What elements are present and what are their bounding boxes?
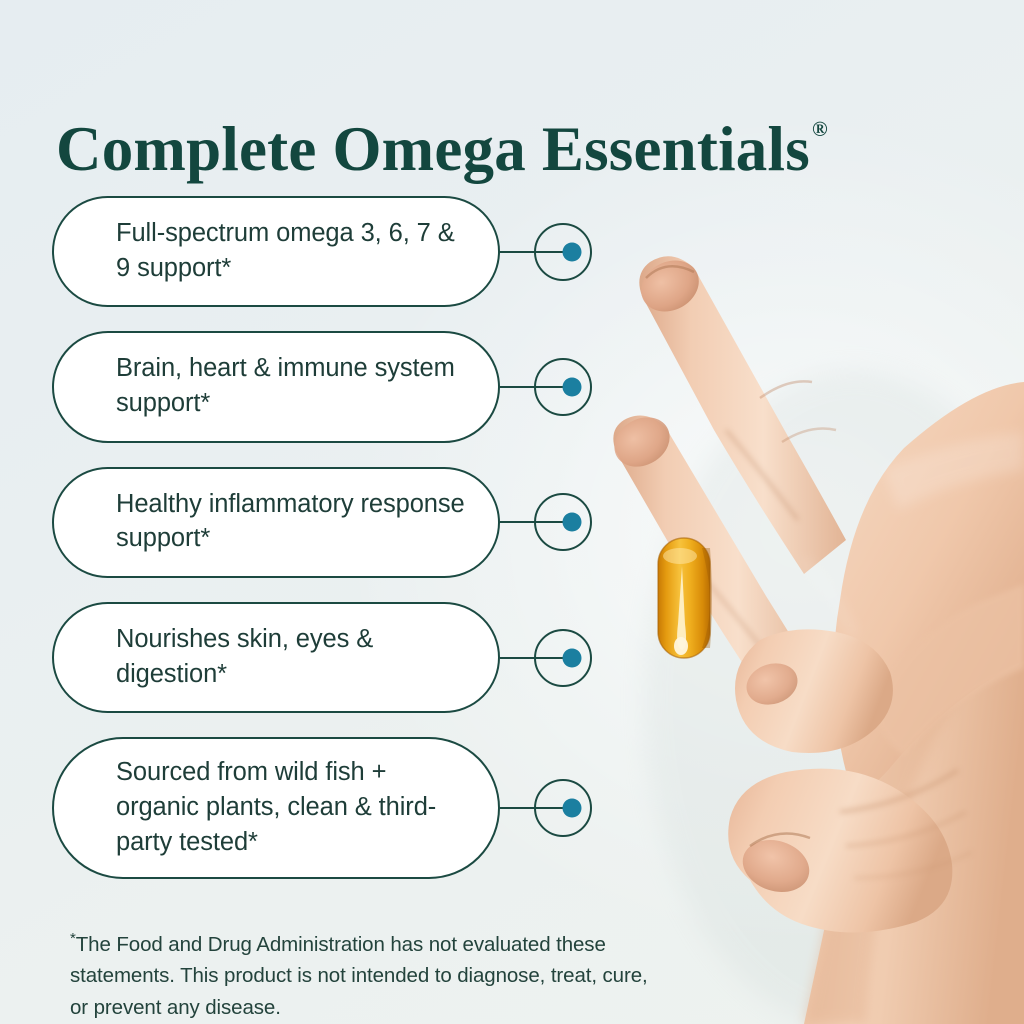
feature-list: Full-spectrum omega 3, 6, 7 & 9 support*… — [52, 196, 592, 903]
feature-connector — [500, 221, 592, 283]
feature-pill[interactable]: Brain, heart & immune system support* — [52, 331, 500, 442]
feature-pill[interactable]: Healthy inflammatory response support* — [52, 467, 500, 578]
feature-item[interactable]: Brain, heart & immune system support* — [52, 331, 592, 442]
bullet-dot-icon — [563, 242, 582, 261]
feature-connector — [500, 777, 592, 839]
product-feature-graphic: Complete Omega Essentials® Full-spectrum… — [0, 0, 1024, 1024]
page-title-text: Complete Omega Essentials — [56, 114, 810, 184]
feature-item[interactable]: Healthy inflammatory response support* — [52, 467, 592, 578]
registered-trademark-icon: ® — [812, 117, 828, 141]
feature-item[interactable]: Nourishes skin, eyes & digestion* — [52, 602, 592, 713]
page-title: Complete Omega Essentials® — [56, 116, 826, 182]
bullet-dot-icon — [563, 378, 582, 397]
feature-pill[interactable]: Nourishes skin, eyes & digestion* — [52, 602, 500, 713]
bullet-dot-icon — [563, 648, 582, 667]
bullet-dot-icon — [563, 799, 582, 818]
disclaimer-text: The Food and Drug Administration has not… — [70, 932, 648, 1019]
feature-connector — [500, 627, 592, 689]
feature-pill[interactable]: Sourced from wild fish + organic plants,… — [52, 737, 500, 879]
feature-item[interactable]: Sourced from wild fish + organic plants,… — [52, 737, 592, 879]
fda-disclaimer: *The Food and Drug Administration has no… — [70, 927, 670, 1024]
feature-pill[interactable]: Full-spectrum omega 3, 6, 7 & 9 support* — [52, 196, 500, 307]
bullet-dot-icon — [563, 513, 582, 532]
feature-item[interactable]: Full-spectrum omega 3, 6, 7 & 9 support* — [52, 196, 592, 307]
feature-connector — [500, 491, 592, 553]
softgel-capsule — [658, 538, 712, 658]
feature-connector — [500, 356, 592, 418]
